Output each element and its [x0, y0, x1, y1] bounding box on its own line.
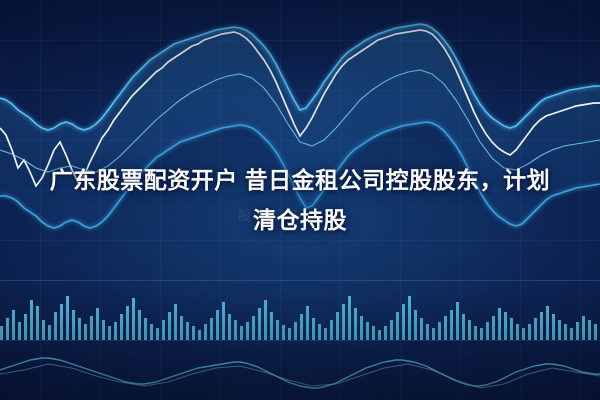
headline-text: 广东股票配资开户 昔日金租公司控股股东，计划 清仓持股 — [0, 160, 600, 240]
oscillator-svg — [0, 340, 600, 400]
oscillator-signal-line — [0, 364, 600, 388]
volume-bars-svg — [0, 282, 600, 340]
volume-pane — [0, 282, 600, 340]
pane-divider-volume — [0, 280, 600, 281]
oscillator-pane — [0, 340, 600, 400]
stock-chart-banner: 股票配资 广东股票配资开户 昔日金租公司控股股东，计划 清仓持股 — [0, 0, 600, 400]
volume-bars — [0, 296, 597, 340]
